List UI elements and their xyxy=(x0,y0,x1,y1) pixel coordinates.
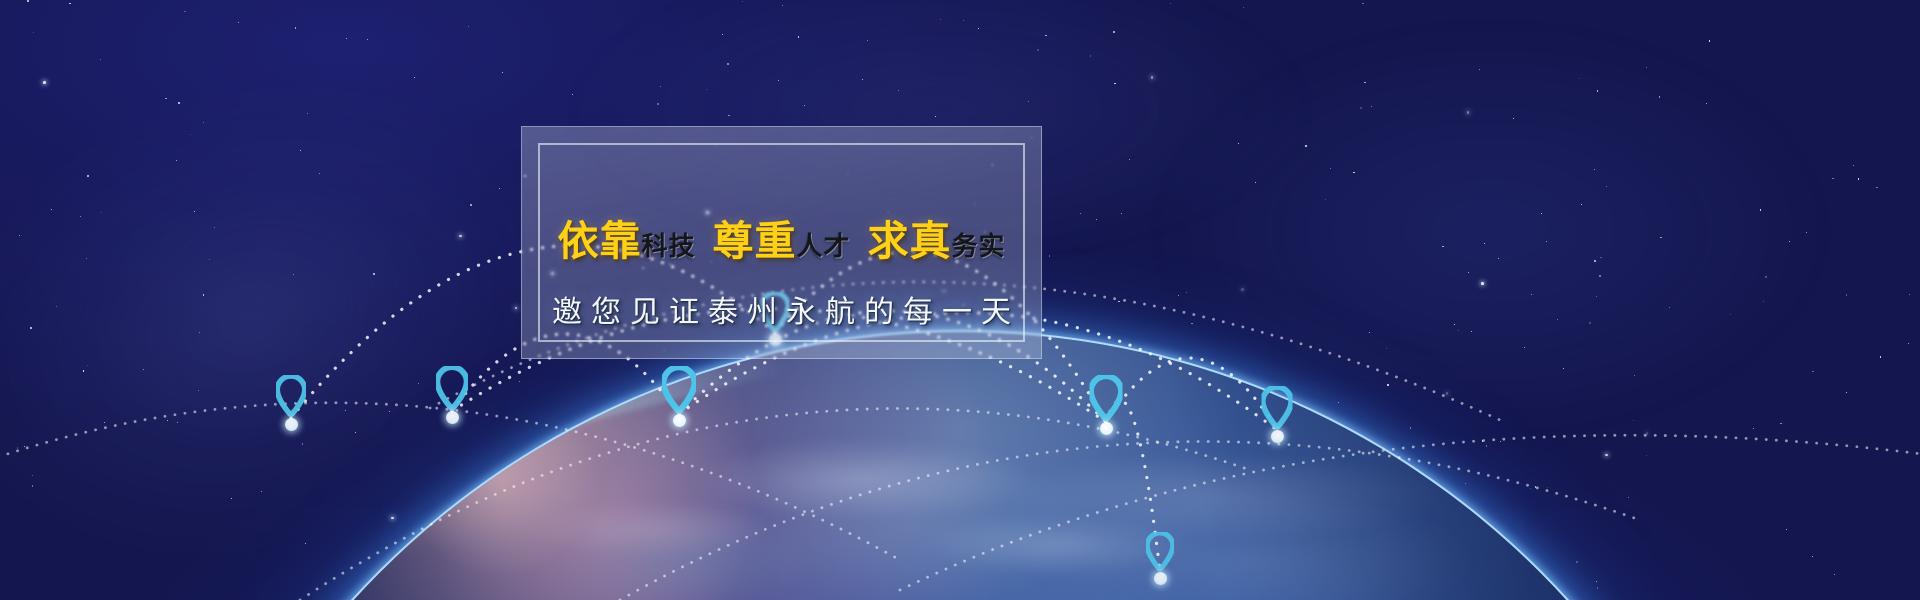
star xyxy=(657,103,659,105)
star xyxy=(1594,260,1596,262)
headline-segment-2: 科技 xyxy=(641,232,695,262)
star xyxy=(178,102,180,104)
star xyxy=(319,173,320,174)
star xyxy=(1605,454,1608,457)
star xyxy=(1468,272,1469,273)
star xyxy=(1765,276,1767,278)
star xyxy=(373,273,375,275)
star xyxy=(1045,35,1046,36)
star xyxy=(100,59,101,60)
star xyxy=(104,422,105,423)
star xyxy=(660,86,661,87)
star xyxy=(1563,368,1564,369)
star xyxy=(1191,323,1192,324)
star xyxy=(1353,172,1354,173)
star xyxy=(176,160,177,161)
star xyxy=(1243,7,1244,8)
star xyxy=(17,447,19,449)
star xyxy=(1753,428,1754,429)
star xyxy=(1546,241,1547,242)
star xyxy=(1362,3,1363,4)
star xyxy=(1786,529,1787,530)
star xyxy=(51,209,52,210)
star xyxy=(27,0,29,2)
star xyxy=(1557,319,1558,320)
star xyxy=(706,89,707,90)
star xyxy=(1458,330,1459,331)
star xyxy=(722,34,723,35)
star xyxy=(1028,101,1029,102)
slogan-headline: 依靠科技 尊重人才 求真务实 xyxy=(540,207,1023,267)
star xyxy=(1628,497,1629,498)
star xyxy=(30,327,32,329)
star xyxy=(80,216,81,217)
star xyxy=(1660,237,1661,238)
star xyxy=(804,105,805,106)
star xyxy=(1114,83,1115,84)
star xyxy=(459,235,462,238)
star xyxy=(1178,295,1179,296)
star xyxy=(1909,294,1910,295)
star xyxy=(199,332,200,333)
star xyxy=(1789,241,1790,242)
star xyxy=(862,79,863,80)
star xyxy=(1465,483,1466,484)
star xyxy=(1547,487,1548,488)
star xyxy=(24,446,25,447)
star xyxy=(87,175,89,177)
star xyxy=(1037,49,1039,51)
star xyxy=(1780,423,1781,424)
star xyxy=(1600,257,1601,258)
star xyxy=(167,420,168,421)
star xyxy=(468,26,469,27)
star xyxy=(1812,556,1813,557)
star xyxy=(1596,581,1597,582)
star xyxy=(1471,331,1472,332)
star xyxy=(1113,31,1115,33)
hero-banner: 依靠科技 尊重人才 求真务实 邀您见证泰州永航的每一天 xyxy=(0,0,1920,600)
star xyxy=(1387,384,1388,385)
star xyxy=(1812,371,1814,373)
star xyxy=(1360,107,1362,109)
star xyxy=(1330,168,1331,169)
star xyxy=(867,40,868,41)
star xyxy=(101,212,102,213)
star xyxy=(1832,178,1833,179)
headline-segment-6: 务实 xyxy=(952,232,1006,262)
star xyxy=(165,98,166,99)
star xyxy=(1846,392,1847,393)
star xyxy=(1579,78,1580,79)
star xyxy=(1170,3,1171,4)
star xyxy=(502,72,503,73)
star xyxy=(238,22,239,23)
star xyxy=(1241,288,1244,291)
star xyxy=(935,116,936,117)
star xyxy=(1049,255,1051,257)
star xyxy=(1500,441,1501,442)
star xyxy=(1597,90,1598,91)
star xyxy=(1498,258,1499,259)
star xyxy=(1834,574,1835,575)
star xyxy=(293,274,294,275)
star xyxy=(1606,186,1607,187)
star xyxy=(898,90,899,91)
star xyxy=(1541,213,1542,214)
star xyxy=(1482,440,1483,441)
star xyxy=(1646,455,1647,456)
star xyxy=(1669,307,1670,308)
star xyxy=(1186,292,1187,293)
star xyxy=(346,38,347,39)
star xyxy=(1597,587,1599,589)
star xyxy=(300,150,301,151)
headline-segment-4: 人才 xyxy=(796,232,850,262)
star xyxy=(214,227,215,228)
star xyxy=(1596,296,1597,297)
star xyxy=(1118,301,1119,302)
star xyxy=(33,32,34,33)
star xyxy=(1524,347,1525,348)
star xyxy=(798,36,799,37)
slogan-panel-inner-border: 依靠科技 尊重人才 求真务实 邀您见证泰州永航的每一天 xyxy=(538,143,1025,342)
star xyxy=(1876,187,1877,188)
star xyxy=(742,1,743,2)
star xyxy=(143,369,144,370)
star xyxy=(1080,213,1081,214)
star xyxy=(190,134,191,135)
star xyxy=(1305,145,1307,147)
star xyxy=(1646,432,1649,435)
star xyxy=(963,20,965,22)
star xyxy=(307,113,308,114)
star xyxy=(87,365,88,366)
star xyxy=(1151,76,1154,79)
star xyxy=(1594,169,1595,170)
star xyxy=(209,259,210,260)
star xyxy=(1599,275,1601,277)
star xyxy=(184,11,185,12)
star xyxy=(32,475,33,476)
star xyxy=(1484,243,1485,244)
star xyxy=(203,294,204,295)
star xyxy=(1486,445,1488,447)
star xyxy=(1454,324,1455,325)
star xyxy=(1096,219,1097,220)
star xyxy=(295,27,297,29)
star xyxy=(940,19,941,20)
star xyxy=(782,5,783,6)
star xyxy=(1467,111,1470,114)
star xyxy=(194,211,195,212)
star xyxy=(515,307,518,310)
star xyxy=(1090,55,1091,56)
star xyxy=(1369,332,1370,333)
star xyxy=(1531,294,1532,295)
star xyxy=(1364,82,1366,84)
star xyxy=(1410,427,1411,428)
headline-word-gap xyxy=(695,232,712,262)
star xyxy=(1589,322,1591,324)
star xyxy=(414,77,415,78)
star xyxy=(1386,348,1387,349)
star xyxy=(1858,178,1859,179)
star xyxy=(1535,486,1536,487)
star xyxy=(69,3,71,5)
star xyxy=(1908,343,1909,344)
slogan-subline: 邀您见证泰州永航的每一天 xyxy=(540,287,1023,331)
star xyxy=(1634,375,1635,376)
star xyxy=(572,94,573,95)
star xyxy=(1325,199,1326,200)
star xyxy=(1853,165,1854,166)
headline-segment-5: 求真 xyxy=(868,217,952,265)
star xyxy=(86,258,87,259)
star xyxy=(1709,40,1711,42)
star xyxy=(728,115,729,116)
star xyxy=(1442,246,1444,248)
star xyxy=(1659,96,1660,97)
star xyxy=(1763,301,1765,303)
headline-word-gap xyxy=(851,232,868,262)
star xyxy=(1730,314,1731,315)
star xyxy=(499,188,500,189)
star xyxy=(83,370,84,371)
star xyxy=(470,204,472,206)
star xyxy=(778,80,779,81)
star xyxy=(1530,488,1531,489)
star xyxy=(1446,392,1449,395)
star xyxy=(177,422,178,423)
star xyxy=(1706,103,1707,104)
star xyxy=(1129,159,1130,160)
star xyxy=(1806,232,1807,233)
star xyxy=(1479,69,1480,70)
star xyxy=(32,485,33,486)
headline-segment-3: 尊重 xyxy=(712,217,796,265)
star xyxy=(1646,67,1647,68)
star xyxy=(978,28,979,29)
star xyxy=(1371,106,1372,107)
star xyxy=(43,81,46,84)
star xyxy=(1513,118,1514,119)
star xyxy=(1238,143,1239,144)
star xyxy=(1581,204,1582,205)
star xyxy=(367,39,368,40)
star xyxy=(56,306,57,307)
star xyxy=(1576,561,1578,563)
star xyxy=(1880,356,1881,357)
star xyxy=(203,122,204,123)
star xyxy=(19,235,20,236)
star xyxy=(1255,182,1256,183)
star xyxy=(1846,294,1847,295)
slogan-panel: 依靠科技 尊重人才 求真务实 邀您见证泰州永航的每一天 xyxy=(521,126,1042,359)
star xyxy=(727,63,729,65)
star xyxy=(1760,209,1761,210)
star xyxy=(198,390,199,391)
star xyxy=(1121,213,1122,214)
star xyxy=(1338,402,1339,403)
star xyxy=(1481,282,1484,285)
star xyxy=(1633,420,1634,421)
headline-segment-1: 依靠 xyxy=(557,217,641,265)
